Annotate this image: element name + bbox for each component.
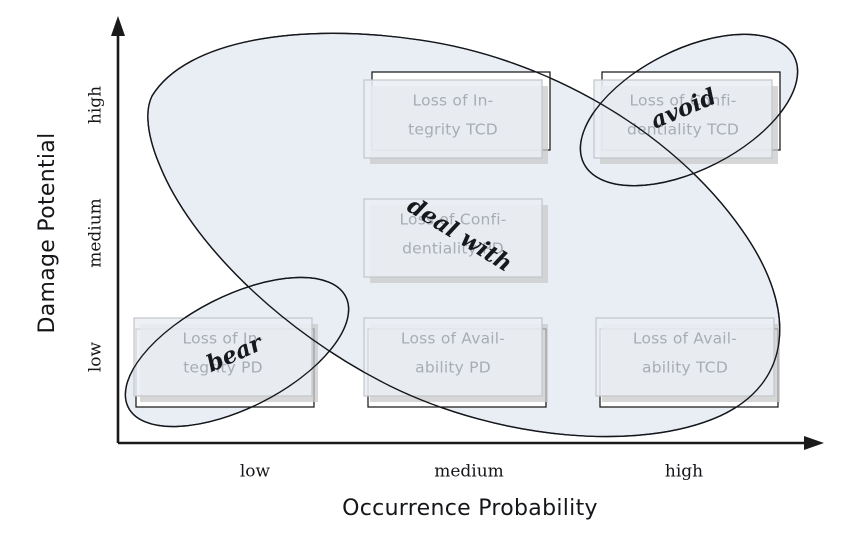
axes-layer: high medium low Damage Potential low med… (0, 0, 855, 537)
x-axis-arrow-icon (804, 436, 824, 450)
x-tick-medium: medium (434, 462, 504, 482)
risk-matrix-diagram: Loss of In- tegrity TCD Loss of Confi- d… (0, 0, 855, 537)
x-axis-title: Occurrence Probability (342, 496, 598, 521)
y-axis-title: Damage Potential (35, 132, 60, 333)
y-tick-high: high (86, 86, 106, 124)
y-tick-low: low (86, 341, 106, 372)
x-tick-low: low (240, 462, 271, 482)
y-tick-medium: medium (86, 198, 106, 268)
x-tick-high: high (665, 462, 703, 482)
y-axis-arrow-icon (111, 16, 125, 36)
